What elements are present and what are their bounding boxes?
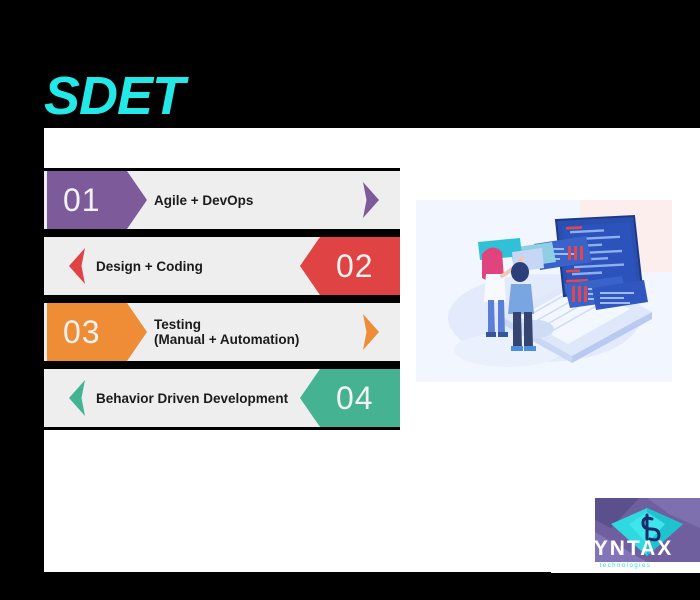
brand-logo: SYNTAX technologies xyxy=(551,498,700,573)
step-row[interactable]: Design + Coding 02 xyxy=(44,237,400,295)
step-number-badge: 01 xyxy=(47,171,147,229)
logo-tagline: technologies xyxy=(551,563,700,569)
chevron-right-icon xyxy=(360,312,382,352)
illustration-art xyxy=(416,200,672,382)
step-number: 01 xyxy=(63,182,101,219)
step-label: Testing (Manual + Automation) xyxy=(154,317,299,347)
step-row[interactable]: 03 Testing (Manual + Automation) xyxy=(44,303,400,361)
content-panel: 01 Agile + DevOps Design + Coding 02 xyxy=(44,128,700,572)
step-list: 01 Agile + DevOps Design + Coding 02 xyxy=(44,168,400,430)
chevron-right-icon xyxy=(360,180,382,220)
step-number-badge: 02 xyxy=(300,237,400,295)
logo-name: SYNTAX xyxy=(551,537,700,561)
step-row[interactable]: 01 Agile + DevOps xyxy=(44,171,400,229)
step-label: Behavior Driven Development xyxy=(96,391,288,406)
step-number-badge: 04 xyxy=(300,369,400,427)
step-number-badge: 03 xyxy=(47,303,147,361)
step-row[interactable]: Behavior Driven Development 04 xyxy=(44,369,400,427)
slide-root: SDET 01 Agile + DevOps Design + Coding xyxy=(0,0,700,600)
chevron-left-icon xyxy=(66,378,88,418)
page-title: SDET xyxy=(44,64,184,128)
step-label: Agile + DevOps xyxy=(154,193,253,208)
developer-illustration xyxy=(416,200,672,382)
step-number: 02 xyxy=(336,248,374,285)
step-label: Design + Coding xyxy=(96,259,203,274)
step-number: 03 xyxy=(63,314,101,351)
logo-mark-icon xyxy=(551,498,700,573)
chevron-left-icon xyxy=(66,246,88,286)
step-number: 04 xyxy=(336,380,374,417)
